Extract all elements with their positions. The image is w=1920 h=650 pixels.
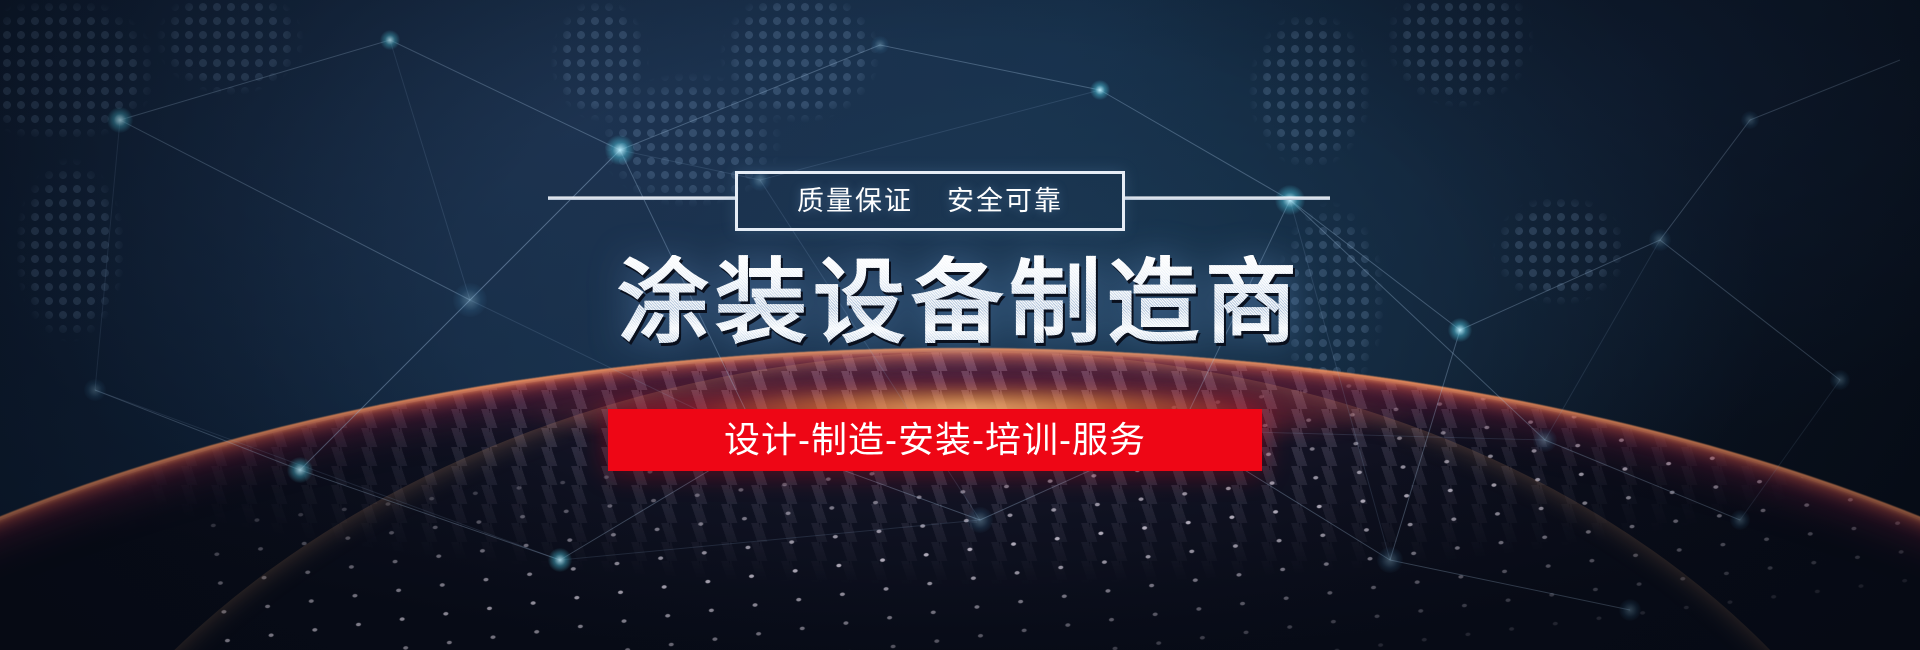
- network-node: [287, 457, 313, 483]
- network-node: [1090, 80, 1110, 100]
- tagline-item-safety: 安全可靠: [947, 188, 1063, 215]
- network-node: [380, 30, 400, 50]
- network-node: [1533, 428, 1557, 452]
- network-node: [1730, 510, 1750, 530]
- network-node: [107, 107, 133, 133]
- network-node: [84, 379, 106, 401]
- network-node: [1649, 229, 1671, 251]
- network-node: [1275, 185, 1305, 215]
- services-ribbon-label: 设计-制造-安装-培训-服务: [724, 422, 1146, 458]
- tagline-item-quality: 质量保证: [797, 188, 913, 215]
- services-ribbon: 设计-制造-安装-培训-服务: [608, 409, 1262, 471]
- network-node: [605, 135, 635, 165]
- network-node: [1619, 599, 1641, 621]
- network-node: [871, 36, 889, 54]
- page-title: 涂装设备制造商: [0, 255, 1920, 352]
- tagline-box: 质量保证 安全可靠: [735, 171, 1125, 231]
- tagline-rule-left: [548, 196, 738, 200]
- network-node: [1377, 547, 1403, 573]
- hero-banner: 质量保证 安全可靠 涂装设备制造商 设计-制造-安装-培训-服务: [0, 0, 1920, 650]
- network-node: [1741, 111, 1759, 129]
- network-node: [1830, 370, 1850, 390]
- network-node: [548, 548, 572, 572]
- network-node: [967, 507, 993, 533]
- tagline-rule-right: [1122, 196, 1330, 200]
